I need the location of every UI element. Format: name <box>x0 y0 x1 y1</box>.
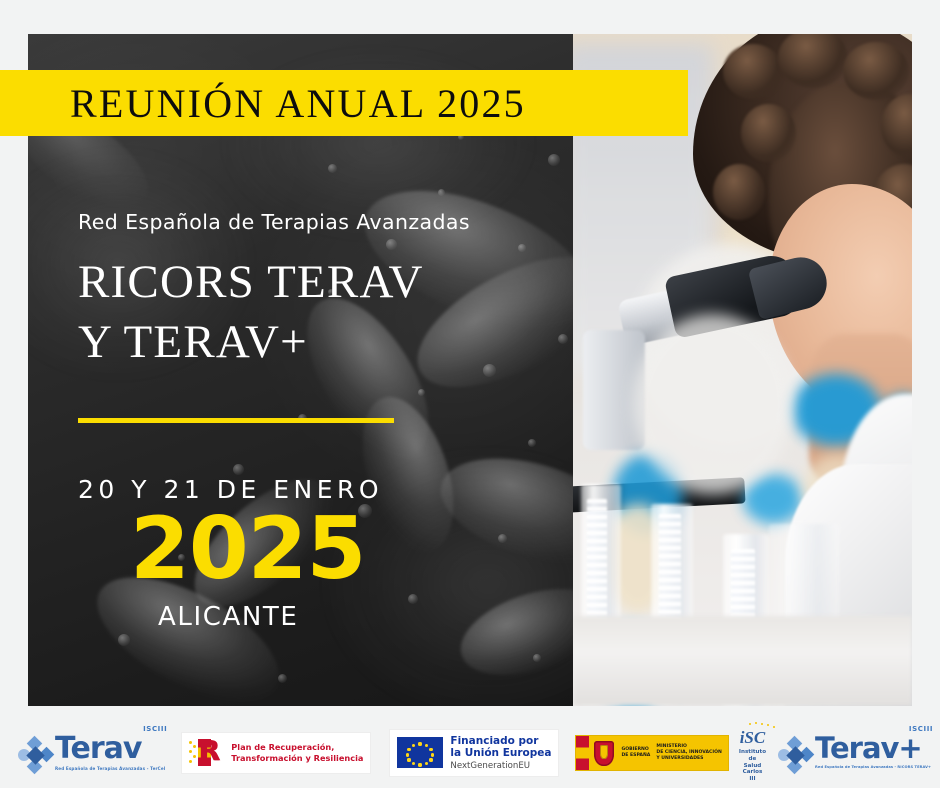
poster-canvas: REUNIÓN ANUAL 2025 Red Española de Terap… <box>0 0 940 788</box>
logo-financiado-union-europea: Financiado por la Unión Europea NextGene… <box>389 729 559 778</box>
terav-plus-diamond-icon <box>778 738 812 772</box>
yellow-divider-rule <box>78 418 394 423</box>
prtr-line2: Transformación y Resiliencia <box>231 753 363 764</box>
logo-plan-recuperacion: R Plan de Recuperación, Transformación y… <box>181 732 371 774</box>
isciii-line2: de Salud <box>739 756 766 770</box>
sponsor-logo-bar: ISCIII Terav Red Española de Terapias Av… <box>0 718 940 788</box>
isciii-line3: Carlos III <box>739 769 766 783</box>
logo-terav-plus: ISCIII Terav+ Red Española de Terapias A… <box>778 734 931 772</box>
terav-isciii-tag: ISCIII <box>143 725 167 733</box>
isciii-monogram: iSC <box>740 729 766 746</box>
gob-line2: DE ESPAÑA <box>621 753 650 759</box>
banner-title-text: REUNIÓN ANUAL 2025 <box>70 80 526 127</box>
logo-isciii: iSC Instituto de Salud Carlos III <box>739 723 766 784</box>
spain-flag-bar-icon <box>576 736 589 770</box>
prtr-flag-r-icon: R <box>189 738 225 768</box>
event-city-text: ALICANTE <box>158 602 548 632</box>
ministerio-line3: Y UNIVERSIDADES <box>656 756 722 762</box>
main-title-line2: Y TERAV+ <box>78 312 548 372</box>
terav-diamond-icon <box>18 738 52 772</box>
poster-text-block: Red Española de Terapias Avanzadas RICOR… <box>78 210 548 632</box>
eu-fin-line2: la Unión Europea <box>450 747 551 760</box>
terav-plus-isciii-tag: ISCIII <box>909 725 933 733</box>
spain-coat-of-arms-icon <box>589 736 619 770</box>
eu-fin-line3: NextGenerationEU <box>450 761 551 772</box>
terav-subtitle: Red Española de Terapias Avanzadas - Ter… <box>55 766 165 771</box>
title-banner: REUNIÓN ANUAL 2025 <box>0 70 688 136</box>
terav-plus-wordmark: Terav+ <box>815 734 931 763</box>
prtr-line1: Plan de Recuperación, <box>231 742 363 753</box>
terav-wordmark: Terav <box>55 734 165 764</box>
isciii-line1: Instituto <box>739 749 766 756</box>
kicker-text: Red Española de Terapias Avanzadas <box>78 210 548 234</box>
logo-gobierno-espana: GOBIERNO DE ESPAÑA MINISTERIO DE CIENCIA… <box>575 735 728 771</box>
event-year-text: 2025 <box>130 506 548 594</box>
main-title: RICORS TERAV Y TERAV+ <box>78 252 548 372</box>
terav-plus-subtitle: Red Española de Terapias Avanzadas - RIC… <box>815 765 931 769</box>
logo-terav: ISCIII Terav Red Española de Terapias Av… <box>18 734 165 772</box>
main-title-line1: RICORS TERAV <box>78 252 548 312</box>
eu-flag-icon <box>397 737 443 768</box>
eu-fin-line1: Financiado por <box>450 735 551 748</box>
